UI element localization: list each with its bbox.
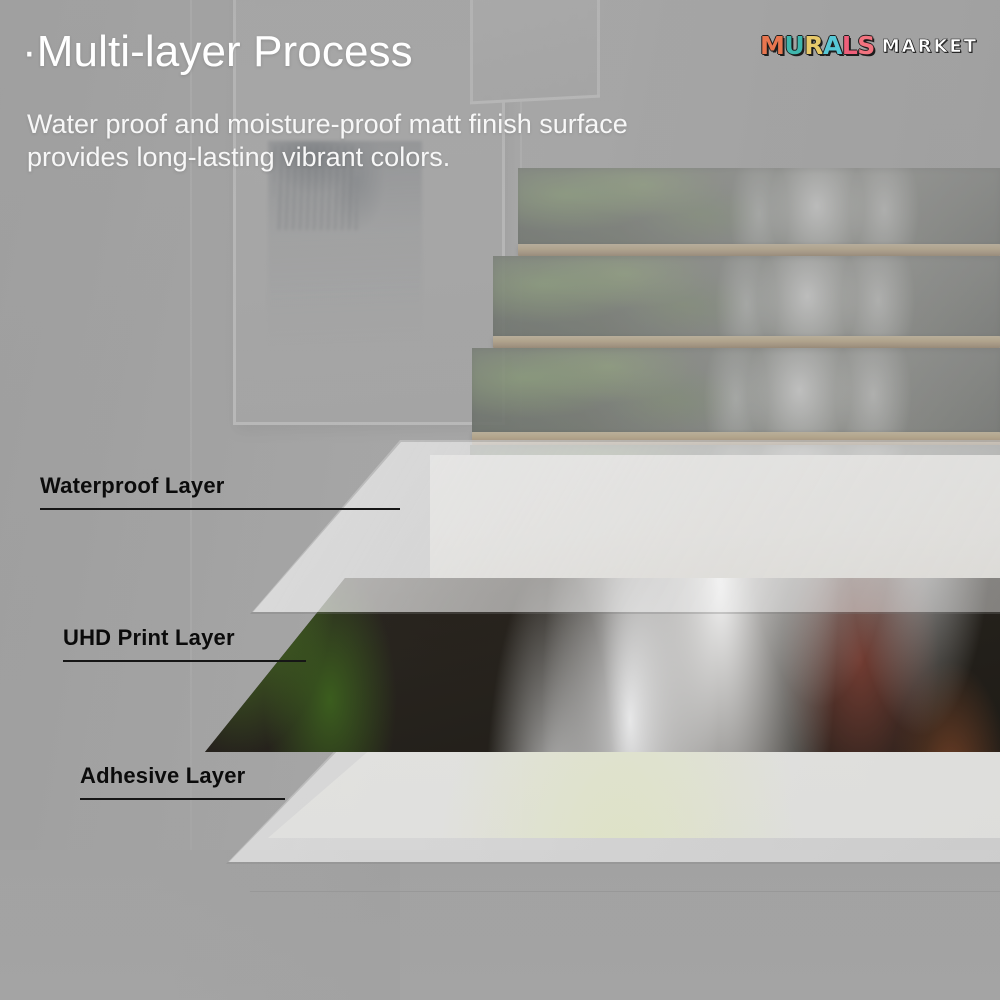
adhesive-layer-label: Adhesive Layer <box>80 763 285 800</box>
uhd-print-layer-label: UHD Print Layer <box>63 625 306 662</box>
uhd-print-layer-label-rule <box>63 660 306 662</box>
brand-logo[interactable]: MURALS MARKET <box>760 33 978 58</box>
brand-logo-letter-u-1: U <box>784 33 804 58</box>
waterproof-layer-label: Waterproof Layer <box>40 473 400 510</box>
brand-logo-murals: MURALS <box>760 33 875 58</box>
brand-logo-letter-s-5: S <box>857 33 875 58</box>
page-subtitle: Water proof and moisture-proof matt fini… <box>27 108 628 174</box>
brand-logo-letter-a-3: A <box>823 33 842 58</box>
adhesive-layer-label-rule <box>80 798 285 800</box>
brand-logo-letter-l-4: L <box>842 33 857 58</box>
brand-logo-letter-m-0: M <box>760 33 784 58</box>
uhd-print-layer-label-text: UHD Print Layer <box>63 625 306 651</box>
brand-logo-market: MARKET <box>882 38 978 58</box>
waterproof-layer-label-text: Waterproof Layer <box>40 473 400 499</box>
waterproof-layer-label-rule <box>40 508 400 510</box>
adhesive-layer-label-text: Adhesive Layer <box>80 763 285 789</box>
page-title: ·Multi-layer Process <box>22 27 413 77</box>
brand-logo-letter-r-2: R <box>804 33 823 58</box>
promo-graphic: Waterproof Layer UHD Print Layer Adhesiv… <box>0 0 1000 1000</box>
